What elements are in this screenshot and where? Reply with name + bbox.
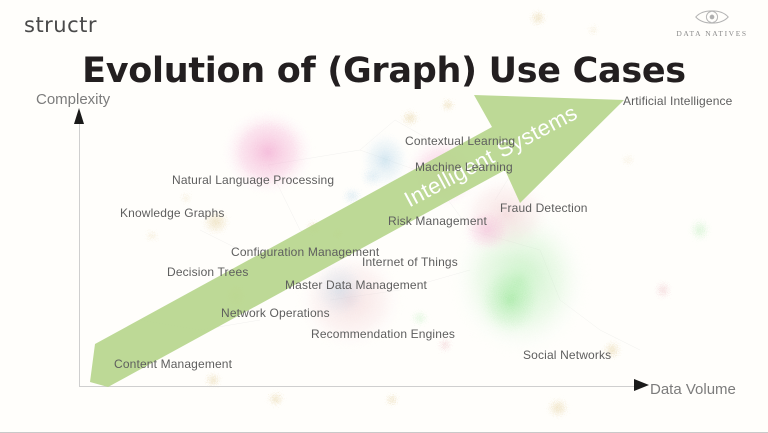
- label-decision-trees: Decision Trees: [167, 265, 248, 279]
- x-axis-line: [79, 386, 636, 387]
- label-machine-learning: Machine Learning: [415, 160, 513, 174]
- label-risk-management: Risk Management: [388, 214, 487, 228]
- label-recommendation-engines: Recommendation Engines: [311, 327, 455, 341]
- eye-icon: [694, 8, 730, 26]
- label-natural-language-processing: Natural Language Processing: [172, 173, 334, 187]
- x-axis-arrow-icon: [634, 379, 649, 391]
- label-content-management: Content Management: [114, 357, 232, 371]
- data-natives-logo: DATA NATIVES: [670, 8, 754, 38]
- x-axis-label: Data Volume: [650, 381, 736, 398]
- label-configuration-management: Configuration Management: [231, 245, 379, 259]
- trend-arrow-label: Intelligent Systems: [400, 100, 582, 213]
- y-axis-line: [79, 122, 80, 387]
- label-social-networks: Social Networks: [523, 348, 611, 362]
- y-axis-label: Complexity: [36, 91, 110, 108]
- label-artificial-intelligence: Artificial Intelligence: [623, 94, 733, 108]
- label-network-operations: Network Operations: [221, 306, 330, 320]
- label-contextual-learning: Contextual Learning: [405, 134, 515, 148]
- slide-canvas: structr DATA NATIVES Evolution of (Graph…: [0, 0, 768, 433]
- structr-logo: structr: [24, 13, 97, 37]
- label-master-data-management: Master Data Management: [285, 278, 427, 292]
- y-axis-arrow-icon: [74, 108, 84, 124]
- data-natives-label: DATA NATIVES: [670, 29, 754, 38]
- label-fraud-detection: Fraud Detection: [500, 201, 588, 215]
- label-knowledge-graphs: Knowledge Graphs: [120, 206, 224, 220]
- page-title: Evolution of (Graph) Use Cases: [0, 51, 768, 91]
- label-internet-of-things: Internet of Things: [362, 255, 458, 269]
